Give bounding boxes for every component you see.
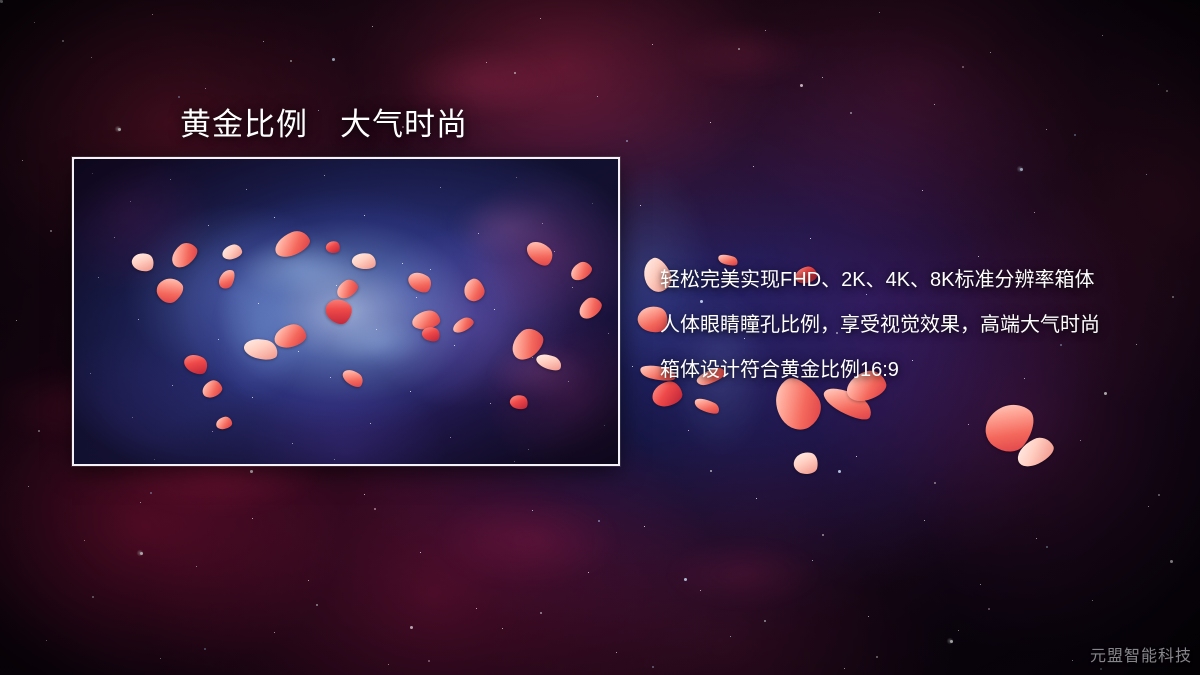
description-line-3: 箱体设计符合黄金比例16:9 (660, 348, 1160, 393)
page-title: 黄金比例 大气时尚 (180, 99, 468, 144)
description-block: 轻松完美实现FHD、2K、4K、8K标准分辨率箱体 人体眼睛瞳孔比例，享受视觉效… (660, 258, 1160, 393)
slide-root: 黄金比例 大气时尚 轻松完美实现FHD、2K、4K、8K标准分辨率箱体 人体眼睛… (0, 0, 1200, 675)
description-line-2: 人体眼睛瞳孔比例，享受视觉效果，高端大气时尚 (660, 303, 1160, 348)
framed-image-content (74, 159, 618, 464)
company-watermark: 元盟智能科技 (1090, 642, 1192, 666)
framed-image-panel[interactable] (72, 157, 620, 466)
description-line-1: 轻松完美实现FHD、2K、4K、8K标准分辨率箱体 (660, 258, 1160, 303)
